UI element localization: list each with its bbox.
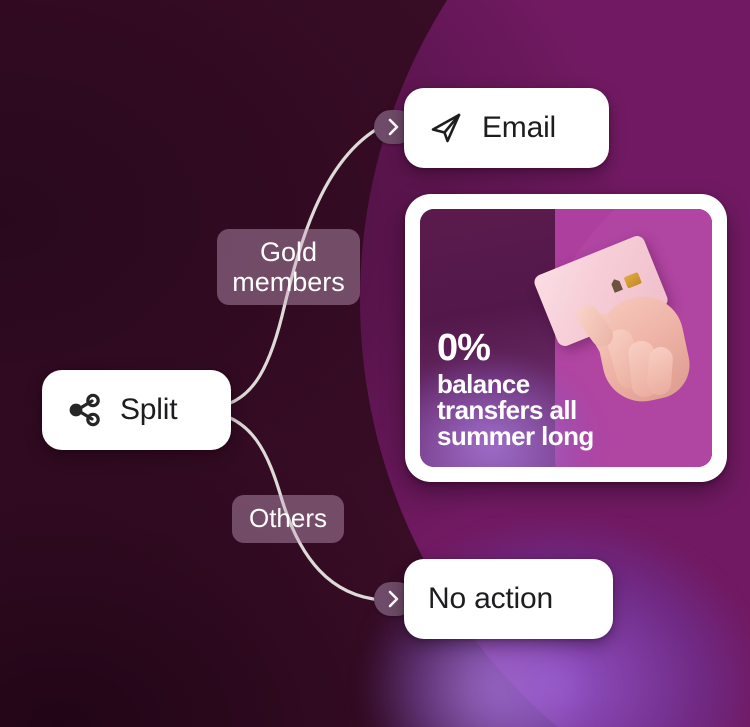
send-icon xyxy=(426,108,466,148)
card-chip-icon xyxy=(624,272,642,289)
creative-subline-1: balance xyxy=(437,371,594,397)
creative-preview-panel[interactable]: 0% balance transfers all summer long xyxy=(405,194,727,482)
creative-subline: balance transfers all summer long xyxy=(437,371,594,449)
chevron-right-icon xyxy=(387,590,401,608)
card-brand-mark xyxy=(610,278,623,293)
node-no-action-label: No action xyxy=(428,582,553,616)
node-split[interactable]: Split xyxy=(42,370,231,450)
node-split-label: Split xyxy=(120,393,177,427)
branch-badge-line-1: Gold xyxy=(232,237,345,267)
node-email[interactable]: Email xyxy=(404,88,609,168)
chevron-right-icon xyxy=(387,118,401,136)
creative-artboard: 0% balance transfers all summer long xyxy=(420,209,712,467)
creative-subline-2: transfers all xyxy=(437,397,594,423)
split-icon xyxy=(64,390,104,430)
branch-badge-line-2: members xyxy=(232,267,345,297)
journey-canvas: Gold members Others Split Email xyxy=(0,0,750,727)
creative-subline-3: summer long xyxy=(437,423,594,449)
branch-badge-label: Others xyxy=(249,504,327,533)
branch-badge-gold-members[interactable]: Gold members xyxy=(217,229,360,305)
branch-badge-others[interactable]: Others xyxy=(232,495,344,543)
node-email-label: Email xyxy=(482,111,556,145)
creative-headline: 0% xyxy=(437,329,594,367)
node-no-action[interactable]: No action xyxy=(404,559,613,639)
creative-copy: 0% balance transfers all summer long xyxy=(437,329,594,449)
hand-finger xyxy=(646,346,673,396)
